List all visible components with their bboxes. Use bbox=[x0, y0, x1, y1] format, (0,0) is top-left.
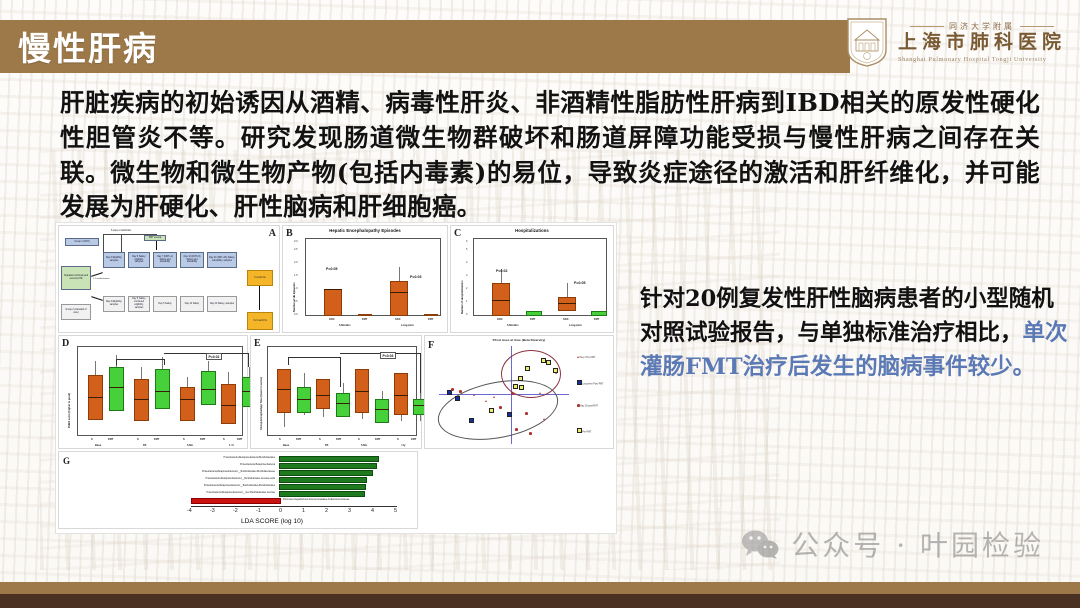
panel-f-point-yellow-1 bbox=[546, 360, 551, 365]
flow-node-12month-fu: >12 month f/u bbox=[247, 312, 273, 330]
panel-g-xtick-0: -4 bbox=[187, 508, 192, 514]
panel-c-xtick-0: SOC bbox=[497, 318, 503, 321]
panel-d-xtick-0: S bbox=[91, 438, 93, 441]
panel-d-sigtick-0 bbox=[116, 359, 117, 365]
panel-c-xtick-1: FMT bbox=[530, 318, 535, 321]
flow-node-outpatient: Outpatient cirrhosis and recurrent HE bbox=[61, 266, 91, 290]
page-title: 慢性肝病 bbox=[18, 22, 158, 70]
figure-panel-f: F PCoA Axes at time (Beta Diversity) bbox=[424, 335, 614, 449]
panel-c-group-header-1: Long-term bbox=[569, 324, 582, 327]
panel-d-whisker-4 bbox=[187, 377, 188, 387]
panel-c-ytick-6: 6 bbox=[466, 240, 467, 243]
watermark-text: 公众号 · 叶园检验 bbox=[791, 524, 1044, 564]
panel-a-label: A bbox=[269, 228, 276, 239]
panel-b-xtick-1: FMT bbox=[362, 318, 367, 321]
panel-c-ytick-2: 2 bbox=[466, 287, 467, 290]
panel-b-ytick-2: 1.0 bbox=[294, 287, 298, 290]
flow-node-group2: Group 2 (standard of care) bbox=[61, 304, 91, 320]
figure-panel-e: E Stroop-EncephalApp Time (lower is wors… bbox=[250, 335, 422, 449]
panel-g-bar-label-6: Firmicutes.Negativicutes.Selenomonadales… bbox=[283, 499, 349, 501]
panel-e-median-6 bbox=[394, 395, 408, 396]
panel-d-xtick-2: S bbox=[137, 438, 139, 441]
figure-panel-b: B Hepatic Encephalopathy Episodes Number… bbox=[282, 225, 448, 333]
panel-d-group-header-2: 5-Mo bbox=[187, 444, 193, 447]
panel-e-median-4 bbox=[355, 391, 369, 392]
panel-e-box-soc-base bbox=[277, 369, 291, 413]
panel-f-point-blue-1 bbox=[455, 396, 460, 401]
panel-g-xtick-2: -2 bbox=[233, 508, 238, 514]
panel-g-xtick-9: 5 bbox=[394, 508, 397, 514]
panel-f-legend-3: Pre-FMT bbox=[577, 428, 591, 434]
panel-d-axes: P=0.02 bbox=[77, 346, 243, 436]
panel-g-bar-label-4: Proteobacteria.Betaproteobacteria.f__Bur… bbox=[63, 485, 275, 487]
panel-b-pvalue-0: P=0.05 bbox=[326, 267, 338, 271]
panel-g-xtick-1: -3 bbox=[210, 508, 215, 514]
panel-d-median-0 bbox=[88, 397, 103, 398]
panel-e-xtick-0: S bbox=[279, 438, 281, 441]
panel-f-point-yellow-6 bbox=[519, 385, 524, 390]
panel-b-ytick-6: 3.0 bbox=[294, 240, 298, 243]
panel-e-box-fmt-base bbox=[297, 387, 311, 413]
figure-panel-c: C Hospitalizations Number of Hospitaliza… bbox=[450, 225, 614, 333]
panel-d-group-header-3: 1-Yr bbox=[229, 444, 234, 447]
flow-node-day6-fmt: Day 6 Safety, eligibility, samples bbox=[128, 252, 150, 268]
flow-node-group1: Group 1 (FMT) bbox=[65, 238, 99, 246]
panel-e-group-header-1: D5 bbox=[325, 444, 328, 447]
panel-b-xtick-2: SOC bbox=[395, 318, 401, 321]
panel-e-box-fmt-d5 bbox=[336, 393, 350, 417]
panel-f-point-yellow-2 bbox=[525, 366, 530, 371]
panel-f-point-circ-1 bbox=[459, 390, 462, 393]
panel-f-plot-area bbox=[439, 346, 569, 444]
panel-b-axes: 0.0 0.5 1.0 1.5 2.0 2.5 3.0 P=0.05 P=0.0… bbox=[305, 238, 441, 316]
panel-e-median-3 bbox=[336, 403, 350, 404]
panel-e-xtick-7: FMT bbox=[411, 438, 416, 441]
panel-g-bar-label-3: Proteobacteria.Betaproteobacteria.f__Bur… bbox=[63, 478, 275, 480]
panel-g-bar-2 bbox=[279, 470, 373, 476]
panel-d-whisker-2 bbox=[141, 367, 142, 379]
panel-g-xtick-4: 0 bbox=[279, 508, 282, 514]
panel-c-ytick-0: 0 bbox=[466, 313, 467, 316]
panel-d-median-4 bbox=[180, 399, 195, 400]
flow-node-day6-soc: Day 6 Safety bbox=[153, 296, 177, 312]
flow-connector-4 bbox=[259, 286, 260, 310]
body-paragraph: 肝脏疾病的初始诱因从酒精、病毒性肝炎、非酒精性脂肪性肝病到IBD相关的原发性硬化… bbox=[60, 86, 1040, 225]
footer-accent-bar bbox=[0, 582, 1080, 594]
panel-d-group-header-1: D5 bbox=[143, 444, 146, 447]
panel-c-box-fmt-lt bbox=[591, 311, 607, 316]
panel-e-axes: P=0.03 bbox=[267, 346, 417, 436]
hospital-crest-icon bbox=[845, 16, 889, 68]
flow-connector-3 bbox=[156, 241, 157, 250]
panel-c-title: Hospitalizations bbox=[451, 228, 613, 233]
panel-e-xtick-3: FMT bbox=[336, 438, 341, 441]
panel-d-median-5 bbox=[201, 389, 216, 390]
panel-g-bar-label-0: Proteobacteria.Betaproteobacteria.Burkho… bbox=[75, 457, 275, 459]
panel-c-pvalue-0: P=0.02 bbox=[496, 269, 508, 273]
panel-f-legend-2: Day 20 post-FMT bbox=[577, 404, 598, 408]
panel-g-xaxis bbox=[191, 506, 397, 507]
flow-node-fmt-enema: FMT enema bbox=[144, 235, 166, 241]
panel-f-point-tri-1 bbox=[493, 396, 495, 398]
panel-f-point-circ-5 bbox=[529, 432, 532, 435]
panel-c-box-soc-lt bbox=[558, 297, 576, 311]
panel-c-xtick-3: FMT bbox=[594, 318, 599, 321]
panel-e-box-soc-d5 bbox=[316, 379, 330, 409]
panel-e-group-header-3: >1y bbox=[401, 444, 405, 447]
panel-b-ytick-0: 0.0 bbox=[294, 313, 298, 316]
panel-d-label: D bbox=[62, 338, 69, 349]
right-commentary-plain: 针对20例复发性肝性脑病患者的小型随机对照试验报告，与单独标准治疗相比， bbox=[640, 286, 1054, 346]
panel-d-whisker-0 bbox=[95, 361, 96, 375]
panel-g-bar-label-2: Proteobacteria.Betaproteobacteria.f__Bur… bbox=[63, 471, 275, 473]
panel-g-xtick-6: 2 bbox=[325, 508, 328, 514]
panel-f-point-yellow-4 bbox=[518, 376, 523, 381]
panel-f-legend-label-0: Day 1 Pre-FMT bbox=[580, 357, 596, 359]
panel-d-ylabel: PHES score (higher is good) bbox=[68, 393, 71, 428]
flow-node-day0-fmt: Day 0 Eligibility, samples bbox=[103, 252, 125, 268]
panel-d-box-soc-5mo bbox=[180, 387, 195, 421]
flow-node-day12-soc: Day 12 Safety bbox=[180, 296, 204, 312]
right-commentary: 针对20例复发性肝性脑病患者的小型随机对照试验报告，与单独标准治疗相比，单次灌肠… bbox=[640, 282, 1072, 385]
panel-f-point-tri-3 bbox=[539, 392, 541, 394]
panel-e-xtick-4: S bbox=[358, 438, 360, 441]
panel-e-xtick-1: FMT bbox=[296, 438, 301, 441]
panel-c-median-soc-5mo bbox=[492, 300, 510, 301]
flow-connector-2 bbox=[121, 234, 122, 252]
panel-d-median-6 bbox=[221, 405, 236, 406]
panel-b-pvalue-1: P=0.03 bbox=[410, 275, 422, 279]
panel-e-median-0 bbox=[277, 389, 291, 390]
panel-d-xtick-3: FMT bbox=[154, 438, 159, 441]
panel-c-ytick-4: 4 bbox=[466, 261, 467, 264]
panel-f-point-blue-2 bbox=[469, 418, 474, 423]
flow-node-day7-fmt: Day 7 (FMT+1) Safety and tolerability bbox=[153, 252, 177, 268]
panel-g-plot-area: Proteobacteria.Betaproteobacteria.Burkho… bbox=[59, 452, 419, 530]
panel-f-point-tri-2 bbox=[485, 400, 487, 402]
panel-d-group-header-0: Base bbox=[95, 444, 101, 447]
panel-b-median-soc-5mo bbox=[324, 289, 342, 290]
panel-e-sigline-0 bbox=[288, 357, 340, 358]
panel-f-point-circ-3 bbox=[525, 412, 528, 415]
flow-node-day20-fmt: Day 20 (FMT+15) Safety, tolerability, sa… bbox=[207, 252, 237, 268]
panel-b-ytick-4: 2.0 bbox=[294, 261, 298, 264]
panel-f-point-blue-0 bbox=[447, 390, 452, 395]
panel-g-xlabel: LDA SCORE (log 10) bbox=[241, 518, 303, 525]
panel-d-box-soc-1yr bbox=[221, 384, 236, 424]
panel-g-bar-5 bbox=[279, 491, 365, 497]
panel-c-ytick-5: 5 bbox=[466, 248, 467, 251]
panel-c-ylabel: Number of Hospitalizations bbox=[461, 280, 464, 314]
panel-f-legend-label-2: Day 20 post-FMT bbox=[580, 406, 598, 408]
panel-f-point-circ-0 bbox=[451, 388, 454, 391]
panel-e-sigtick-2 bbox=[420, 353, 421, 393]
figure-panel-g: G Proteobacteria.Betaproteobacteria.Burk… bbox=[58, 451, 418, 529]
panel-c-xtick-2: SOC bbox=[563, 318, 569, 321]
panel-b-box-fmt-lt bbox=[424, 314, 438, 316]
panel-d-xtick-4: S bbox=[183, 438, 185, 441]
panel-b-group-header-1: Long-term bbox=[401, 324, 414, 327]
panel-f-point-tri-5 bbox=[543, 418, 545, 420]
panel-f-legend-label-3: Pre-FMT bbox=[582, 432, 591, 434]
figure-panel-a: A Group 1 (FMT) Outpatient cirrhosis and… bbox=[58, 225, 280, 333]
wechat-icon bbox=[740, 529, 780, 559]
hospital-logo: 同济大学附属 上海市肺科医院 Shanghai Pulmonary Hospit… bbox=[845, 14, 1066, 70]
panel-f-legend-0: Day 1 Pre-FMT bbox=[577, 356, 595, 360]
wechat-watermark: 公众号 · 叶园检验 bbox=[740, 524, 1044, 564]
flow-node-day12-fmt: Day 12 (FMT+5) Safety and tolerability bbox=[180, 252, 204, 268]
panel-g-xtick-5: 1 bbox=[302, 508, 305, 514]
panel-d-sigline-0 bbox=[116, 359, 164, 360]
panel-b-title: Hepatic Encephalopathy Episodes bbox=[283, 228, 447, 233]
panel-g-bar-0 bbox=[279, 456, 379, 462]
panel-b-ytick-5: 2.5 bbox=[294, 248, 298, 251]
panel-f-legend-marker-3 bbox=[577, 428, 582, 433]
flow-connector-5 bbox=[91, 272, 103, 277]
panel-e-median-2 bbox=[316, 395, 330, 396]
panel-b-xtick-0: SOC bbox=[329, 318, 335, 321]
panel-f-point-yellow-0 bbox=[541, 358, 546, 363]
panel-c-axes: 0 1 2 3 4 5 6 P=0.02 P=0.05 bbox=[473, 238, 607, 316]
panel-b-ytick-3: 1.5 bbox=[294, 274, 298, 277]
panel-f-point-blue-3 bbox=[507, 412, 512, 417]
panel-d-sigtick-1 bbox=[164, 359, 165, 365]
panel-e-xtick-6: S bbox=[397, 438, 399, 441]
panel-c-ytick-3: 3 bbox=[466, 274, 467, 277]
panel-d-median-2 bbox=[134, 399, 149, 400]
flow-node-day5-soc: Day 5 Safety, continued eligibility, sam… bbox=[128, 296, 150, 312]
panel-d-sigtick-2 bbox=[248, 353, 249, 367]
panel-e-median-1 bbox=[297, 399, 311, 400]
panel-d-whisker-5 bbox=[208, 361, 209, 371]
panel-g-bar-label-5: Proteobacteria.Betaproteobacteria.f__Gen… bbox=[63, 492, 275, 494]
panel-b-box-fmt-5mo bbox=[358, 314, 372, 316]
panel-d-xtick-7: FMT bbox=[237, 438, 242, 441]
panel-b-box-soc-5mo bbox=[324, 289, 342, 316]
panel-d-pvalue-0: P=0.02 bbox=[206, 353, 222, 360]
panel-f-point-tri-4 bbox=[555, 372, 557, 374]
panel-g-xtick-7: 3 bbox=[348, 508, 351, 514]
panel-e-xtick-5: FMT bbox=[375, 438, 380, 441]
footer-bar bbox=[0, 594, 1080, 608]
panel-c-whisker-soc-lt bbox=[567, 283, 568, 297]
panel-g-bar-4 bbox=[279, 484, 366, 490]
panel-b-box-soc-lt bbox=[390, 281, 408, 316]
panel-d-xtick-5: FMT bbox=[200, 438, 205, 441]
panel-e-box-soc-1y bbox=[394, 373, 408, 415]
logo-rule-left bbox=[910, 26, 944, 27]
panel-f-point-circ-6 bbox=[511, 392, 514, 395]
panel-f-legend-marker-1 bbox=[577, 380, 582, 385]
panel-e-pvalue-0: P=0.03 bbox=[380, 352, 396, 359]
panel-b-ytick-1: 0.5 bbox=[294, 300, 298, 303]
flow-connector-1 bbox=[103, 234, 104, 252]
panel-f-point-yellow-5 bbox=[513, 384, 518, 389]
logo-hospital-name-en: Shanghai Pulmonary Hospital Tongji Unive… bbox=[898, 56, 1066, 63]
panel-e-sigtick-0 bbox=[288, 357, 289, 365]
flow-randomization-label: 1:1 randomization bbox=[93, 278, 110, 280]
panel-g-bar-1 bbox=[279, 463, 377, 469]
panel-g-xtick-8: 4 bbox=[371, 508, 374, 514]
flow-node-day20-soc: Day 20 Safety, samples bbox=[207, 296, 237, 312]
panel-e-group-header-0: Base bbox=[283, 444, 289, 447]
panel-e-xtick-2: S bbox=[319, 438, 321, 441]
panel-d-box-soc-d5 bbox=[134, 379, 149, 421]
flow-node-day0-soc: Day 0 Eligibility, samples bbox=[103, 296, 125, 312]
panel-g-bar-label-1: Proteobacteria.Betaproteobacteria bbox=[75, 464, 275, 466]
panel-f-point-yellow-7 bbox=[489, 408, 494, 413]
panel-f-legend-1: Long-term Post-FMT bbox=[577, 380, 603, 386]
panel-b-xtick-3: FMT bbox=[428, 318, 433, 321]
flow-antibiotics-label: 5-days of antibiotics bbox=[111, 230, 131, 232]
panel-b-median-soc-lt bbox=[390, 292, 408, 293]
panel-f-point-circ-4 bbox=[515, 428, 518, 431]
panel-g-bar-6 bbox=[191, 498, 281, 504]
panel-c-group-header-0: 5-Months bbox=[507, 324, 519, 327]
flow-connector-top bbox=[103, 234, 157, 235]
figure-panel-d: D PHES score (higher is good) bbox=[58, 335, 248, 449]
panel-c-ytick-1: 1 bbox=[466, 300, 467, 303]
panel-e-box-fmt-5mo bbox=[375, 399, 389, 423]
panel-e-median-5 bbox=[375, 409, 389, 410]
panel-d-median-1 bbox=[109, 387, 124, 388]
panel-e-group-header-2: 5-Mo bbox=[361, 444, 367, 447]
logo-rule-right bbox=[1020, 26, 1054, 27]
research-figure: A Group 1 (FMT) Outpatient cirrhosis and… bbox=[55, 222, 617, 534]
panel-d-xtick-1: FMT bbox=[108, 438, 113, 441]
panel-f-title: PCoA Axes at time (Beta Diversity) bbox=[425, 338, 613, 342]
panel-e-ylabel: Stroop-EncephalApp Time (lower is worse) bbox=[260, 377, 263, 430]
panel-e-sigtick-1 bbox=[340, 357, 341, 387]
panel-d-box-fmt-5mo bbox=[201, 371, 216, 405]
panel-f-legend-label-1: Long-term Post-FMT bbox=[582, 384, 603, 386]
flow-connector-6 bbox=[91, 296, 103, 301]
panel-d-whisker-6 bbox=[228, 372, 229, 384]
panel-d-box-fmt-base bbox=[109, 367, 124, 411]
panel-g-bar-3 bbox=[279, 477, 367, 483]
panel-b-group-header-0: 5-Months bbox=[339, 324, 351, 327]
panel-f-point-tri-0 bbox=[473, 394, 475, 396]
panel-c-median-soc-lt bbox=[558, 303, 576, 304]
panel-f-legend-marker-0 bbox=[577, 356, 579, 358]
panel-g-xtick-3: -1 bbox=[256, 508, 261, 514]
panel-f-legend-marker-2 bbox=[577, 404, 580, 407]
panel-d-xtick-6: S bbox=[223, 438, 225, 441]
panel-c-box-fmt-5mo bbox=[526, 311, 542, 316]
panel-f-point-circ-2 bbox=[499, 406, 502, 409]
panel-d-box-fmt-d5 bbox=[155, 369, 170, 409]
panel-e-label: E bbox=[254, 338, 261, 349]
flow-node-5month-fu: 5 month f/u bbox=[247, 270, 273, 286]
logo-hospital-name-cn: 上海市肺科医院 bbox=[898, 32, 1066, 54]
panel-c-pvalue-1: P=0.05 bbox=[574, 281, 586, 285]
panel-d-median-3 bbox=[155, 391, 170, 392]
